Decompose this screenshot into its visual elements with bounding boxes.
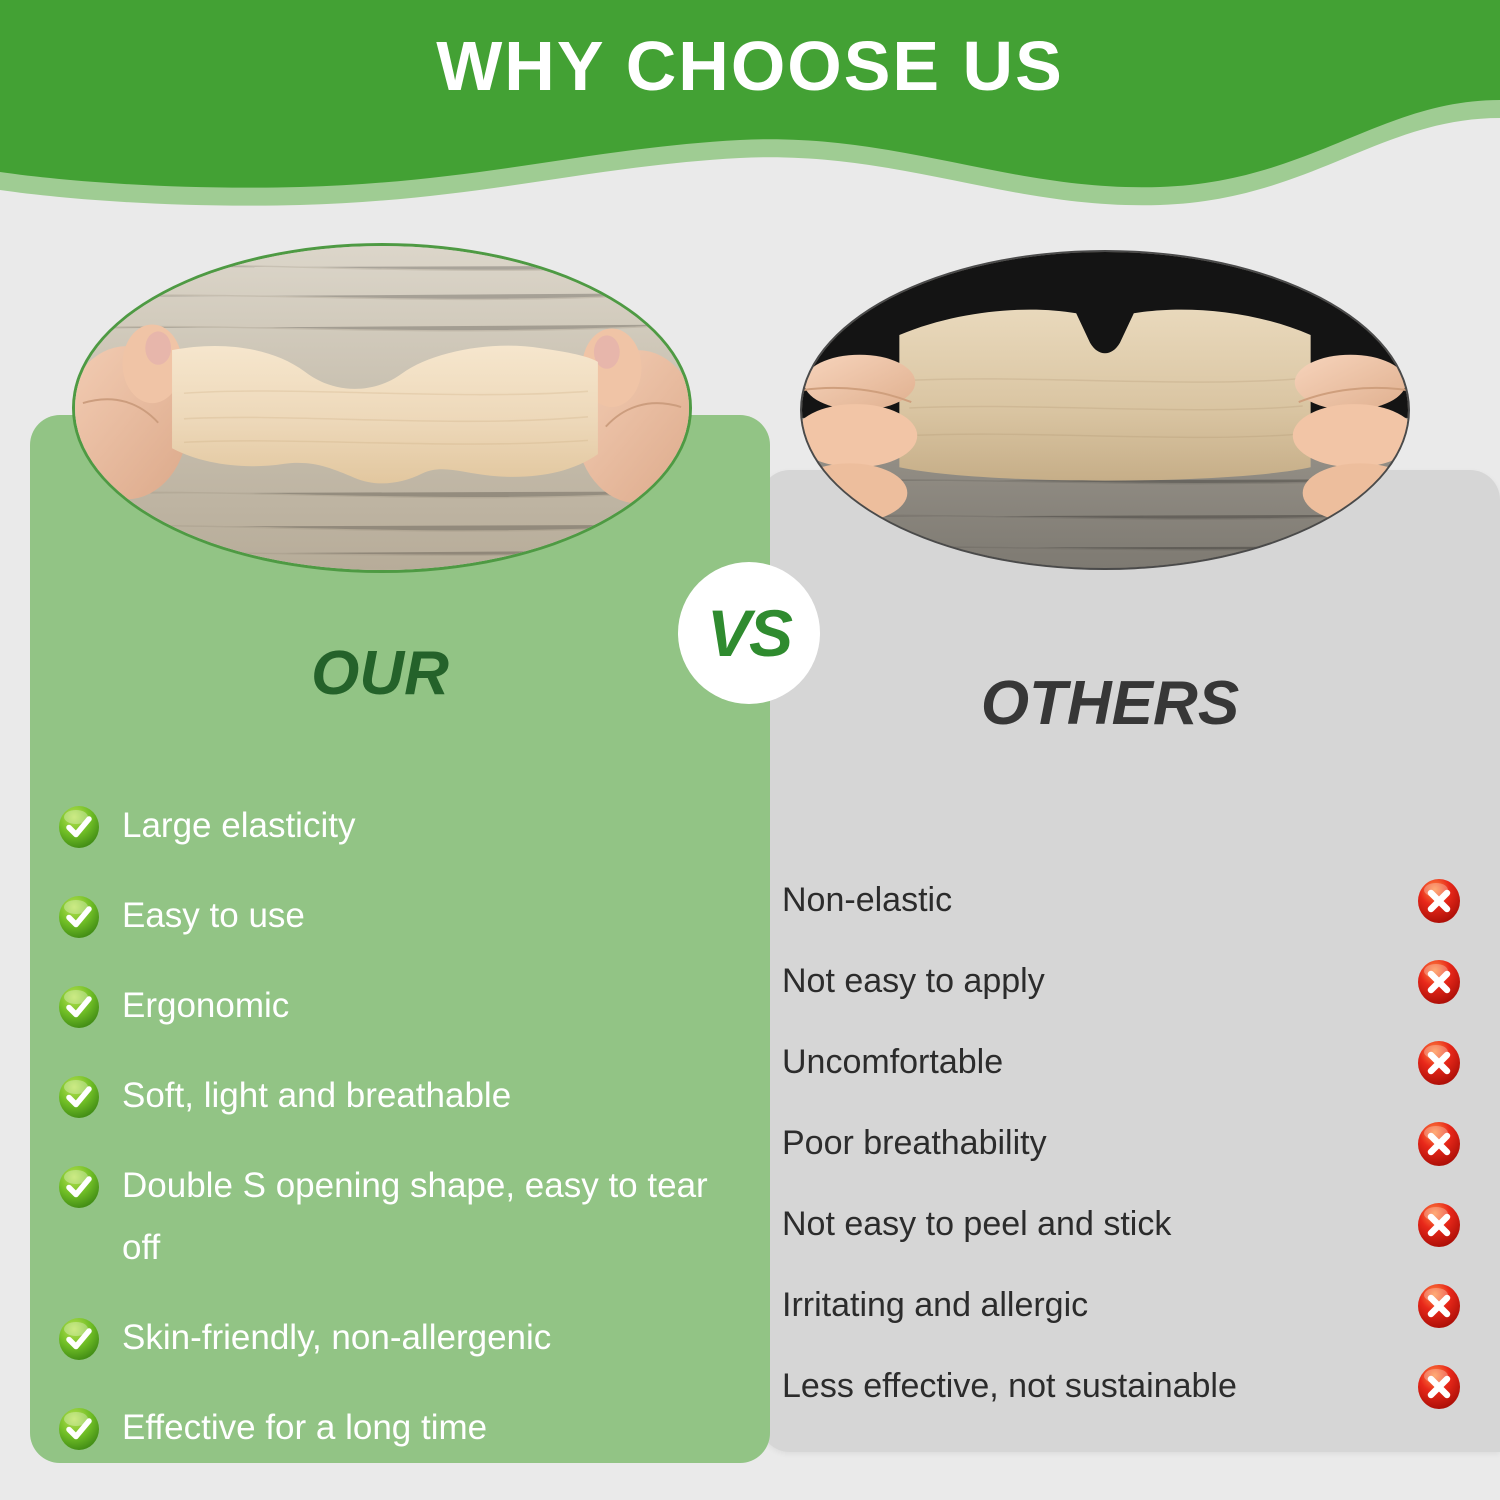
vs-badge: VS bbox=[678, 562, 820, 704]
list-item-label: Less effective, not sustainable bbox=[782, 1367, 1237, 1406]
list-item-label: Non-elastic bbox=[782, 881, 952, 920]
list-item-label: Double S opening shape, easy to tear off bbox=[122, 1155, 710, 1279]
x-circle-icon bbox=[1416, 1364, 1462, 1410]
list-item: Easy to use bbox=[58, 885, 748, 947]
list-item-label: Uncomfortable bbox=[782, 1043, 1003, 1082]
list-item-label: Soft, light and breathable bbox=[122, 1065, 511, 1127]
list-item: Less effective, not sustainable bbox=[782, 1346, 1462, 1427]
page-title: WHY CHOOSE US bbox=[0, 26, 1500, 106]
check-circle-icon bbox=[58, 1407, 100, 1451]
x-circle-icon bbox=[1416, 878, 1462, 924]
list-item-label: Ergonomic bbox=[122, 975, 289, 1037]
check-circle-icon bbox=[58, 1165, 100, 1209]
list-item: Skin-friendly, non-allergenic bbox=[58, 1307, 748, 1369]
list-item: Irritating and allergic bbox=[782, 1265, 1462, 1346]
list-item-label: Not easy to apply bbox=[782, 962, 1045, 1001]
list-item-label: Easy to use bbox=[122, 885, 305, 947]
check-circle-icon bbox=[58, 1317, 100, 1361]
list-item-label: Not easy to peel and stick bbox=[782, 1205, 1171, 1244]
check-circle-icon bbox=[58, 1075, 100, 1119]
list-item-label: Effective for a long time bbox=[122, 1397, 487, 1459]
comparison-infographic: WHY CHOOSE US bbox=[0, 0, 1500, 1500]
check-circle-icon bbox=[58, 985, 100, 1029]
others-product-illustration bbox=[802, 252, 1408, 568]
list-item: Large elasticity bbox=[58, 795, 748, 857]
list-item: Not easy to apply bbox=[782, 941, 1462, 1022]
our-feature-list: Large elasticity Easy to use Ergonom bbox=[58, 795, 748, 1487]
list-item: Non-elastic bbox=[782, 860, 1462, 941]
list-item: Ergonomic bbox=[58, 975, 748, 1037]
list-item: Poor breathability bbox=[782, 1103, 1462, 1184]
others-drawback-list: Non-elastic Not easy to a bbox=[782, 860, 1462, 1427]
others-product-image bbox=[800, 250, 1410, 570]
list-item-label: Irritating and allergic bbox=[782, 1286, 1088, 1325]
list-item-label: Skin-friendly, non-allergenic bbox=[122, 1307, 551, 1369]
x-circle-icon bbox=[1416, 1283, 1462, 1329]
header-band: WHY CHOOSE US bbox=[0, 0, 1500, 240]
x-circle-icon bbox=[1416, 959, 1462, 1005]
check-circle-icon bbox=[58, 805, 100, 849]
x-circle-icon bbox=[1416, 1202, 1462, 1248]
our-product-illustration bbox=[75, 246, 689, 570]
list-item-label: Large elasticity bbox=[122, 795, 355, 857]
list-item: Not easy to peel and stick bbox=[782, 1184, 1462, 1265]
list-item-label: Poor breathability bbox=[782, 1124, 1047, 1163]
list-item: Uncomfortable bbox=[782, 1022, 1462, 1103]
check-circle-icon bbox=[58, 895, 100, 939]
our-column-title: OUR bbox=[30, 638, 730, 709]
x-circle-icon bbox=[1416, 1121, 1462, 1167]
others-column-title: OTHERS bbox=[780, 668, 1440, 739]
list-item: Effective for a long time bbox=[58, 1397, 748, 1459]
vs-label: VS bbox=[707, 595, 791, 671]
our-product-image bbox=[72, 243, 692, 573]
list-item: Double S opening shape, easy to tear off bbox=[58, 1155, 748, 1279]
list-item: Soft, light and breathable bbox=[58, 1065, 748, 1127]
x-circle-icon bbox=[1416, 1040, 1462, 1086]
